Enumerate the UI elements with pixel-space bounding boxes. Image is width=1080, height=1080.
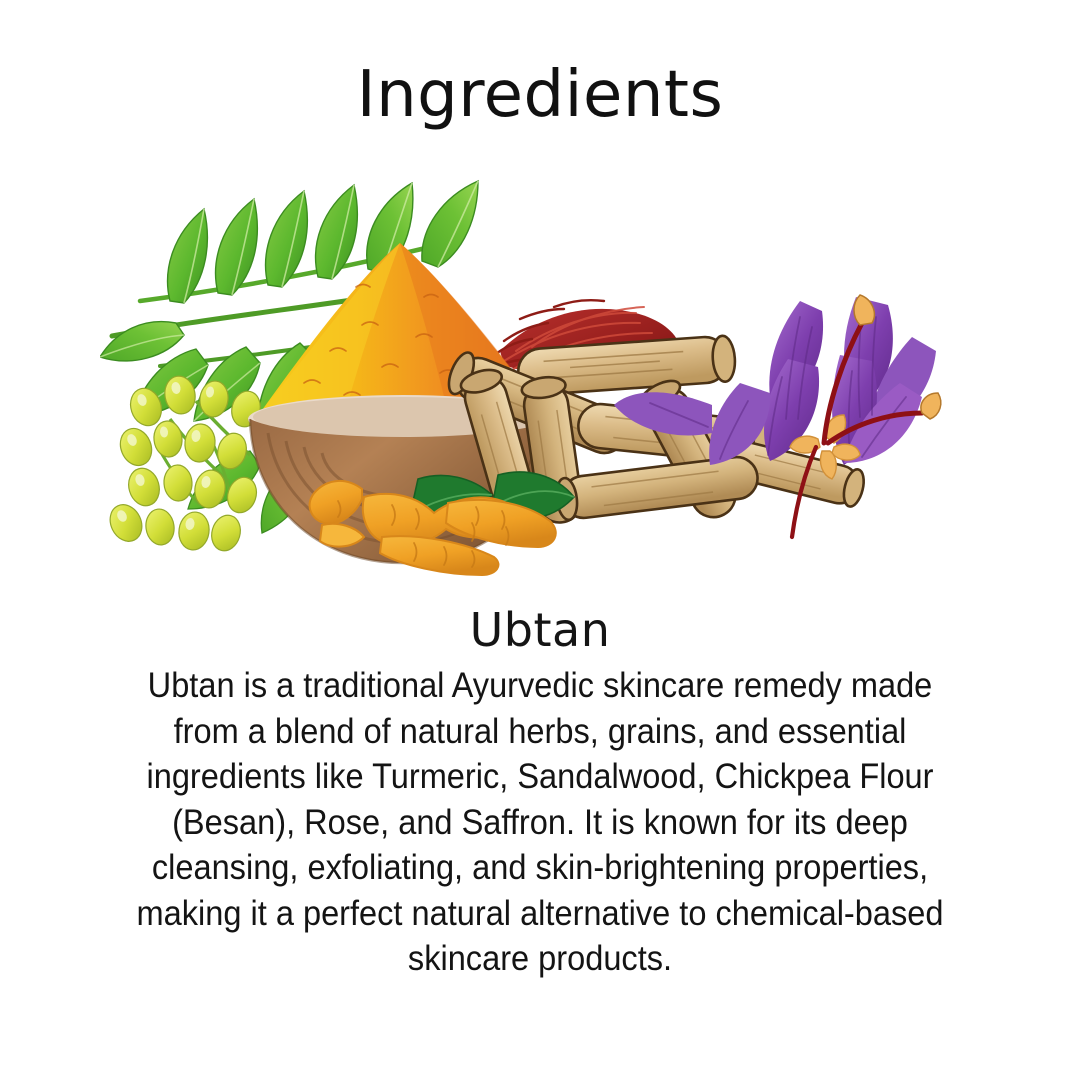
ingredient-description: Ubtan is a traditional Ayurvedic skincar… [122, 663, 959, 982]
ingredient-heading: Ubtan [470, 603, 611, 657]
neem-berries [104, 374, 264, 554]
ingredients-card: Ingredients [0, 0, 1080, 1080]
ubtan-ingredients-illustration [100, 151, 980, 581]
page-title: Ingredients [357, 62, 724, 129]
